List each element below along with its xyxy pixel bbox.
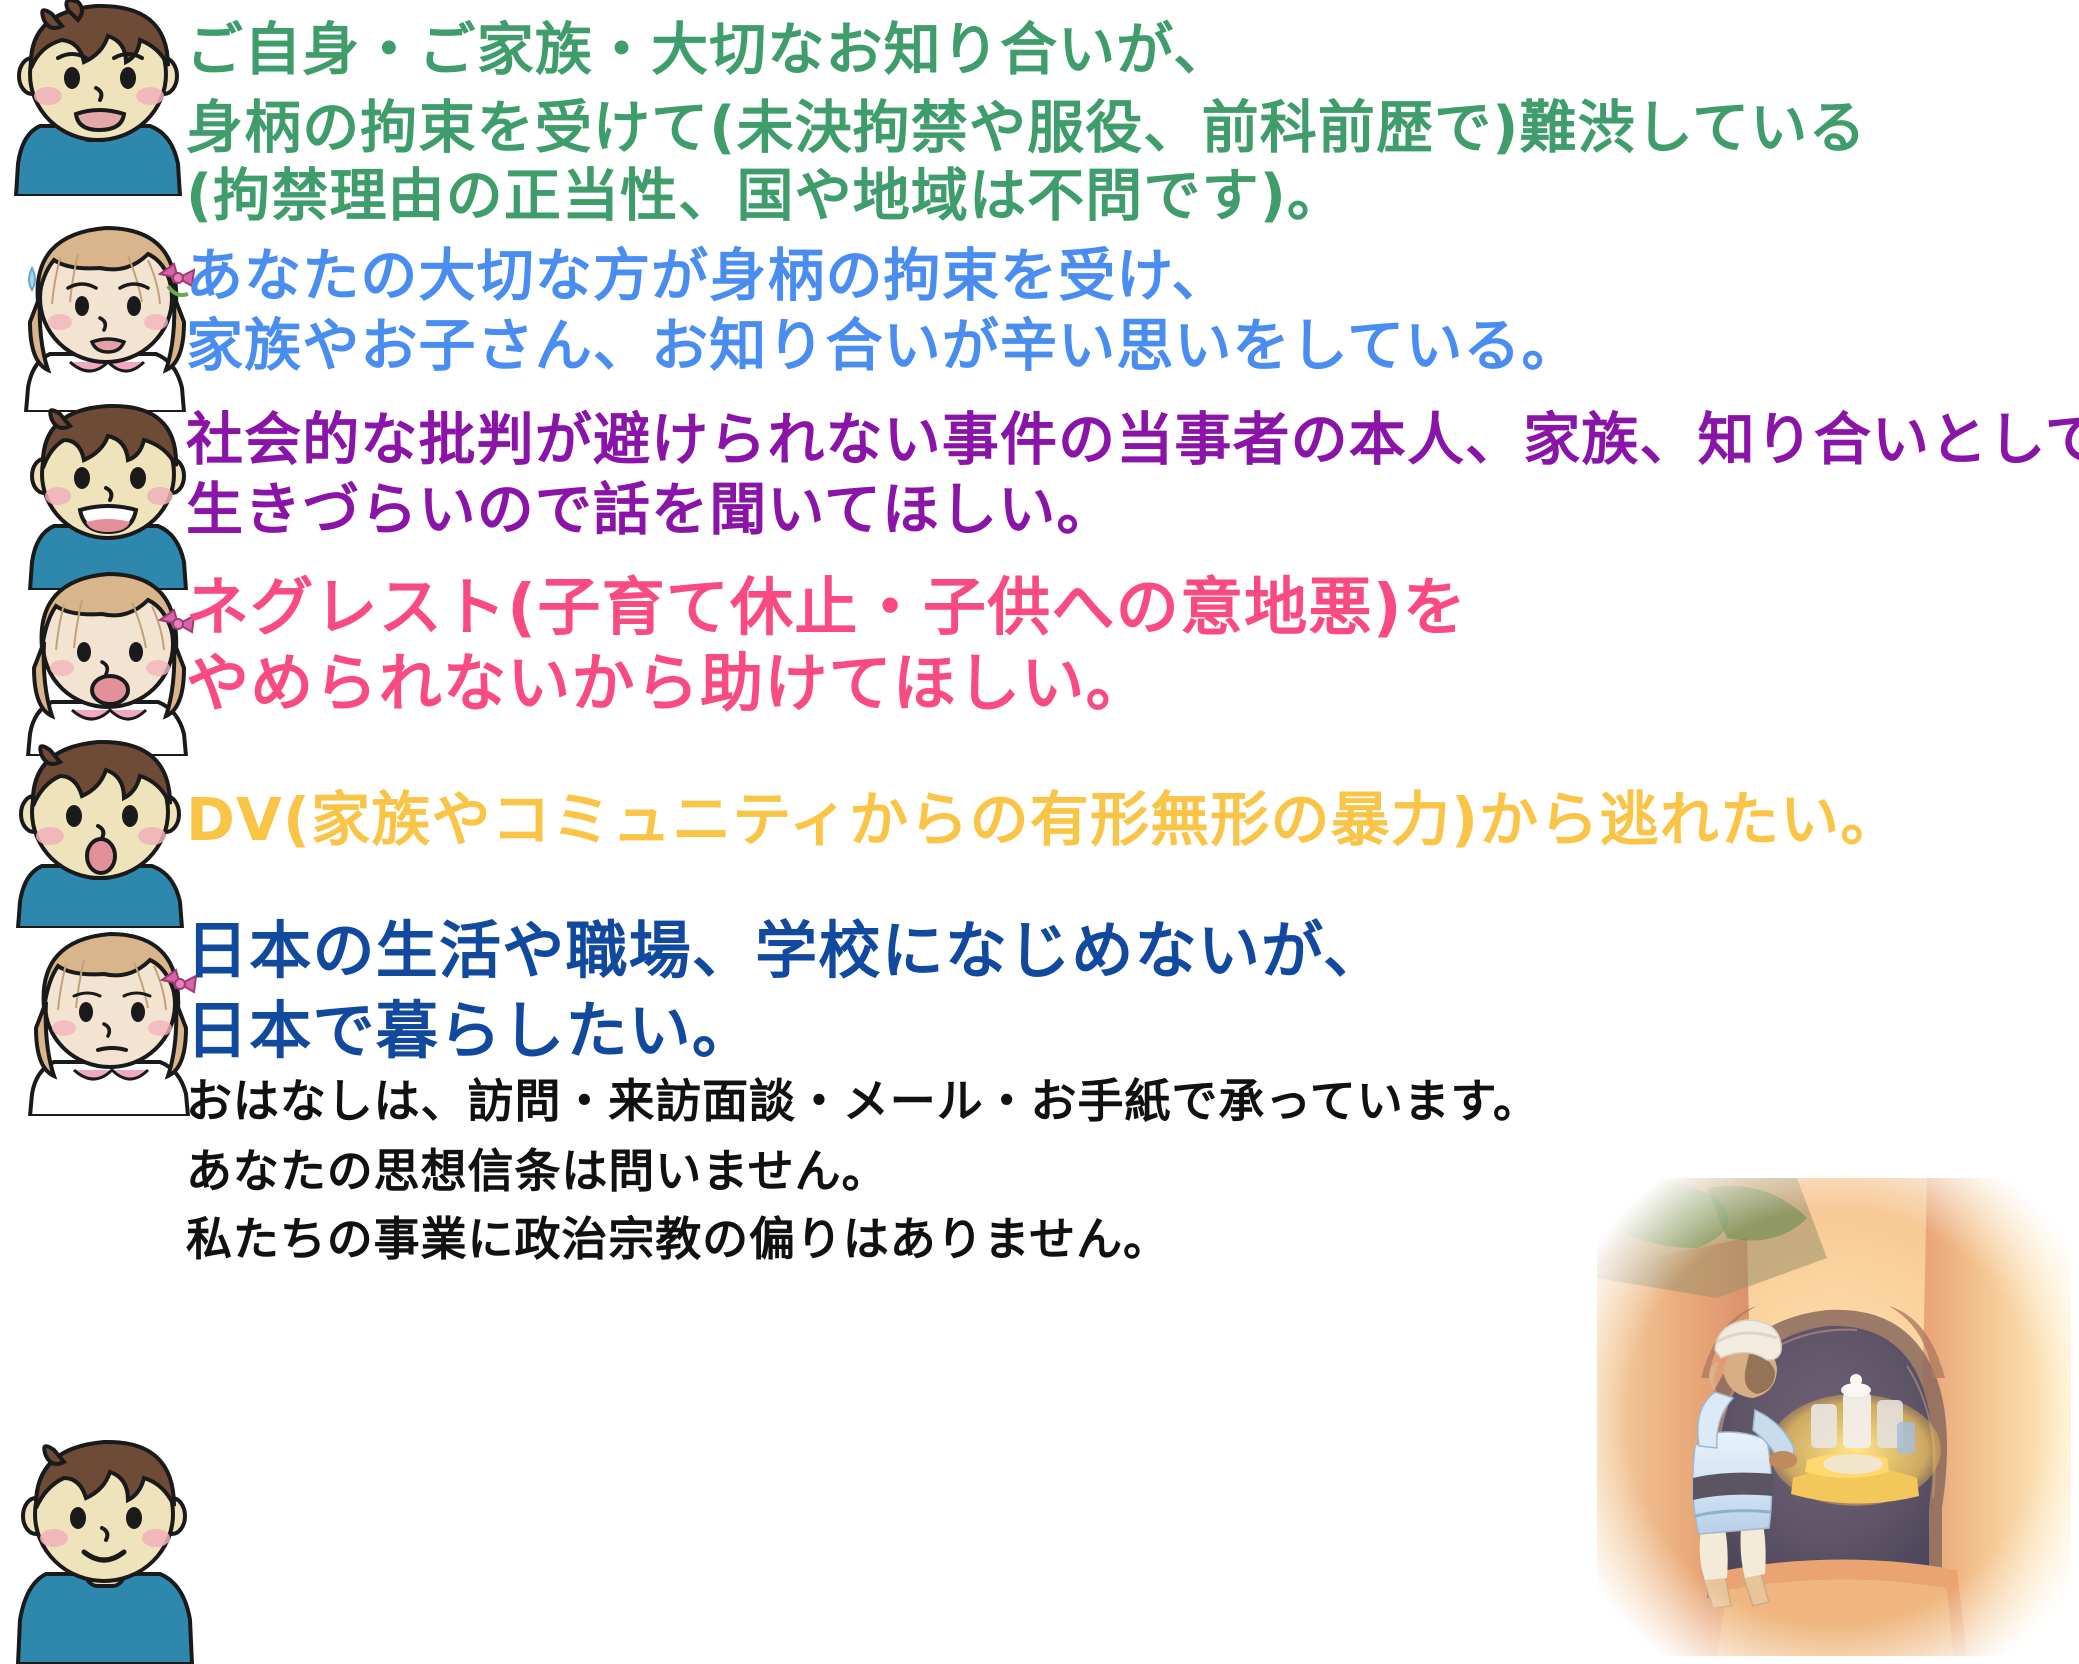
smiling-boy-face-icon — [0, 1424, 210, 1664]
avatar-shouting-girl — [10, 556, 210, 756]
sweat-drop-icon — [29, 268, 35, 290]
text-line-family-1: あなたの大切な方が身柄の拘束を受け、 — [186, 248, 1230, 305]
cave-treasure-illustration — [1597, 1178, 2071, 1656]
avatar-smiling-boy — [0, 1424, 210, 1664]
text-line-contact-3: 私たちの事業に政治宗教の偏りはありません。 — [186, 1216, 1170, 1262]
worried-boy-face-icon — [0, 0, 200, 196]
text-line-japan-2: 日本で暮らしたい。 — [186, 1000, 755, 1062]
text-line-japan-1: 日本の生活や職場、学校になじめないが、 — [186, 920, 1386, 982]
avatar-calm-girl — [12, 916, 212, 1116]
avatar-worried-boy — [0, 0, 200, 196]
text-line-dv-1: DV(家族やコミュニティからの有形無形の暴力)から逃れたい。 — [186, 790, 1900, 849]
avatar-surprised-boy — [2, 728, 202, 928]
text-line-contact-2: あなたの思想信条は問いません。 — [186, 1148, 888, 1194]
cave-treasure-painting — [1597, 1178, 2071, 1656]
calm-girl-face-icon — [12, 916, 212, 1116]
text-line-criticism-1: 社会的な批判が避けられない事件の当事者の本人、家族、知り合いとして — [186, 412, 2079, 469]
text-line-contact-1: おはなしは、訪問・来訪面談・メール・お手紙で承っています。 — [186, 1078, 1540, 1124]
text-line-criticism-2: 生きづらいので話を聞いてほしい。 — [186, 482, 1115, 539]
sad-girl-face-icon — [8, 212, 208, 412]
avatar-sad-girl — [8, 212, 208, 412]
text-line-neglect-1: ネグレスト(子育て休止・子供への意地悪)を — [186, 576, 1467, 639]
text-line-detention-1: ご自身・ご家族・大切なお知り合いが、 — [186, 22, 1231, 79]
text-line-detention-3: (拘禁理由の正当性、国や地域は不問です)。 — [186, 168, 1345, 225]
text-line-neglect-2: やめられないから助けてほしい。 — [186, 652, 1150, 715]
surprised-boy-face-icon — [2, 728, 202, 928]
poster-root: ご自身・ご家族・大切なお知り合いが、 身柄の拘束を受けて(未決拘禁や服役、前科前… — [0, 0, 2079, 1663]
text-line-detention-2: 身柄の拘束を受けて(未決拘禁や服役、前科前歴で)難渋している — [186, 100, 1867, 157]
text-line-family-2: 家族やお子さん、お知り合いが辛い思いをしている。 — [186, 318, 1580, 375]
shouting-girl-face-icon — [10, 556, 210, 756]
